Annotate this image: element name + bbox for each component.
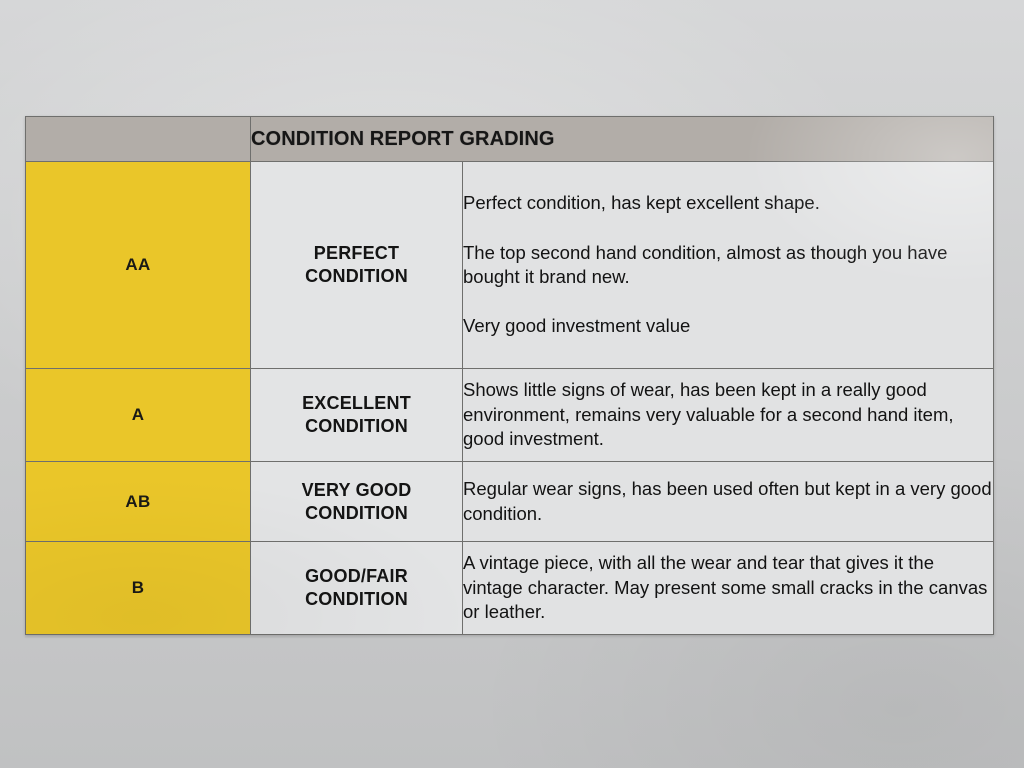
table-row: B GOOD/FAIR CONDITION A vintage piece, w…	[26, 542, 994, 635]
table-title-cell: CONDITION REPORT GRADING	[251, 117, 994, 162]
condition-name-cell-b: GOOD/FAIR CONDITION	[251, 542, 463, 635]
page-title: CONDITION REPORT GRADING	[251, 128, 555, 150]
grade-label: B	[132, 578, 145, 597]
grade-label: AB	[125, 492, 150, 511]
table-body: AA PERFECT CONDITION Perfect condition, …	[26, 162, 994, 635]
description-paragraph: The top second hand condition, almost as…	[463, 241, 993, 290]
grade-label: A	[132, 405, 145, 424]
grade-label: AA	[125, 255, 150, 274]
table-header-row: CONDITION REPORT GRADING	[26, 117, 994, 162]
condition-name-line2: CONDITION	[251, 502, 462, 525]
condition-name-line2: CONDITION	[251, 265, 462, 288]
condition-name-line1: VERY GOOD	[251, 479, 462, 502]
condition-name-cell-a: EXCELLENT CONDITION	[251, 369, 463, 462]
grade-cell-aa: AA	[26, 162, 251, 369]
description-paragraph: A vintage piece, with all the wear and t…	[463, 551, 993, 624]
description-cell-b: A vintage piece, with all the wear and t…	[463, 542, 994, 635]
condition-name-line1: GOOD/FAIR	[251, 565, 462, 588]
condition-name-cell-aa: PERFECT CONDITION	[251, 162, 463, 369]
table-row: AA PERFECT CONDITION Perfect condition, …	[26, 162, 994, 369]
condition-name-line1: PERFECT	[251, 242, 462, 265]
condition-name-cell-ab: VERY GOOD CONDITION	[251, 462, 463, 542]
condition-name-line1: EXCELLENT	[251, 392, 462, 415]
condition-name-line2: CONDITION	[251, 415, 462, 438]
description-paragraph: Perfect condition, has kept excellent sh…	[463, 191, 993, 215]
description-cell-a: Shows little signs of wear, has been kep…	[463, 369, 994, 462]
condition-name-line2: CONDITION	[251, 588, 462, 611]
description-paragraph: Very good investment value	[463, 314, 993, 338]
grade-cell-ab: AB	[26, 462, 251, 542]
condition-report-grading-table: CONDITION REPORT GRADING AA PERFECT COND…	[25, 116, 994, 635]
table-header-spacer	[26, 117, 251, 162]
table-header: CONDITION REPORT GRADING	[26, 117, 994, 162]
grade-cell-a: A	[26, 369, 251, 462]
grade-cell-b: B	[26, 542, 251, 635]
table-row: A EXCELLENT CONDITION Shows little signs…	[26, 369, 994, 462]
description-cell-aa: Perfect condition, has kept excellent sh…	[463, 162, 994, 369]
table-row: AB VERY GOOD CONDITION Regular wear sign…	[26, 462, 994, 542]
description-paragraph: Shows little signs of wear, has been kep…	[463, 378, 993, 451]
description-paragraph: Regular wear signs, has been used often …	[463, 477, 993, 526]
description-cell-ab: Regular wear signs, has been used often …	[463, 462, 994, 542]
